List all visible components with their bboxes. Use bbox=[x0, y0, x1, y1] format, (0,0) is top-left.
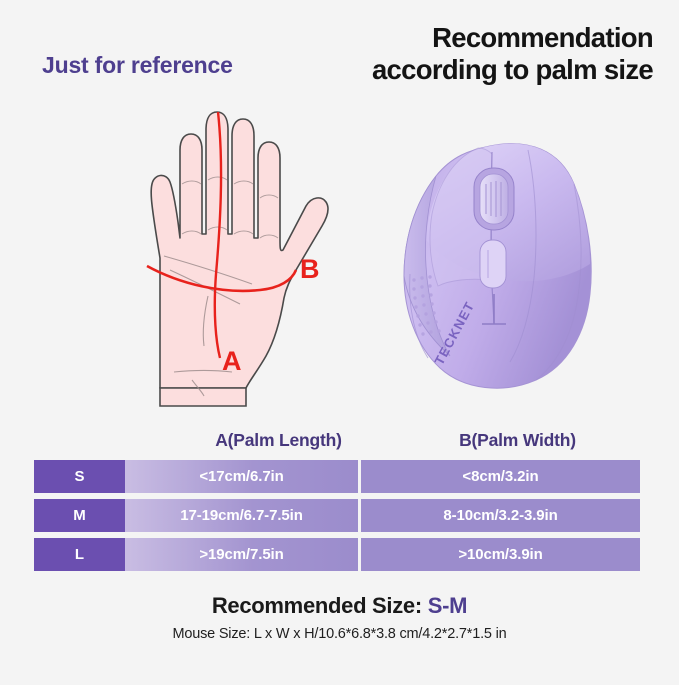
size-table: A(Palm Length) B(Palm Width) S <17cm/6.7… bbox=[34, 430, 640, 582]
marker-b-label: B bbox=[300, 254, 320, 284]
table-row: M 17-19cm/6.7-7.5in 8-10cm/3.2-3.9in bbox=[34, 499, 640, 532]
table-row: L >19cm/7.5in >10cm/3.9in bbox=[34, 538, 640, 571]
palm-length-value-l: >19cm/7.5in bbox=[125, 538, 358, 571]
recommended-size-line: Recommended Size: S-M bbox=[0, 592, 679, 620]
marker-a-label: A bbox=[222, 346, 242, 376]
recommended-size-prefix: Recommended Size: bbox=[212, 593, 428, 618]
mouse-dimensions: Mouse Size: L x W x H/10.6*6.8*3.8 cm/4.… bbox=[0, 626, 679, 642]
mouse-product-image: TECKNET bbox=[378, 128, 668, 413]
footer: Recommended Size: S-M Mouse Size: L x W … bbox=[0, 592, 679, 642]
table-column-headers: A(Palm Length) B(Palm Width) bbox=[34, 430, 640, 460]
palm-length-value-s: <17cm/6.7in bbox=[125, 460, 358, 493]
column-header-palm-width: B(Palm Width) bbox=[395, 430, 640, 451]
size-label-s: S bbox=[34, 460, 125, 493]
palm-width-value-l: >10cm/3.9in bbox=[361, 538, 640, 571]
page-title: Recommendation according to palm size bbox=[353, 22, 653, 86]
palm-width-value-s: <8cm/3.2in bbox=[361, 460, 640, 493]
table-row: S <17cm/6.7in <8cm/3.2in bbox=[34, 460, 640, 493]
recommended-size-value: S-M bbox=[428, 593, 467, 618]
scroll-wheel bbox=[480, 174, 508, 224]
column-header-palm-length: A(Palm Length) bbox=[165, 430, 392, 451]
page-title-line-1: Recommendation bbox=[432, 22, 653, 53]
page-title-line-2: according to palm size bbox=[353, 54, 653, 86]
dpi-button bbox=[480, 240, 506, 288]
size-label-l: L bbox=[34, 538, 125, 571]
mouse-body: TECKNET bbox=[404, 144, 591, 389]
palm-width-value-m: 8-10cm/3.2-3.9in bbox=[361, 499, 640, 532]
hand-diagram: A B bbox=[100, 88, 350, 408]
palm-length-value-m: 17-19cm/6.7-7.5in bbox=[125, 499, 358, 532]
size-label-m: M bbox=[34, 499, 125, 532]
reference-label: Just for reference bbox=[42, 52, 233, 79]
